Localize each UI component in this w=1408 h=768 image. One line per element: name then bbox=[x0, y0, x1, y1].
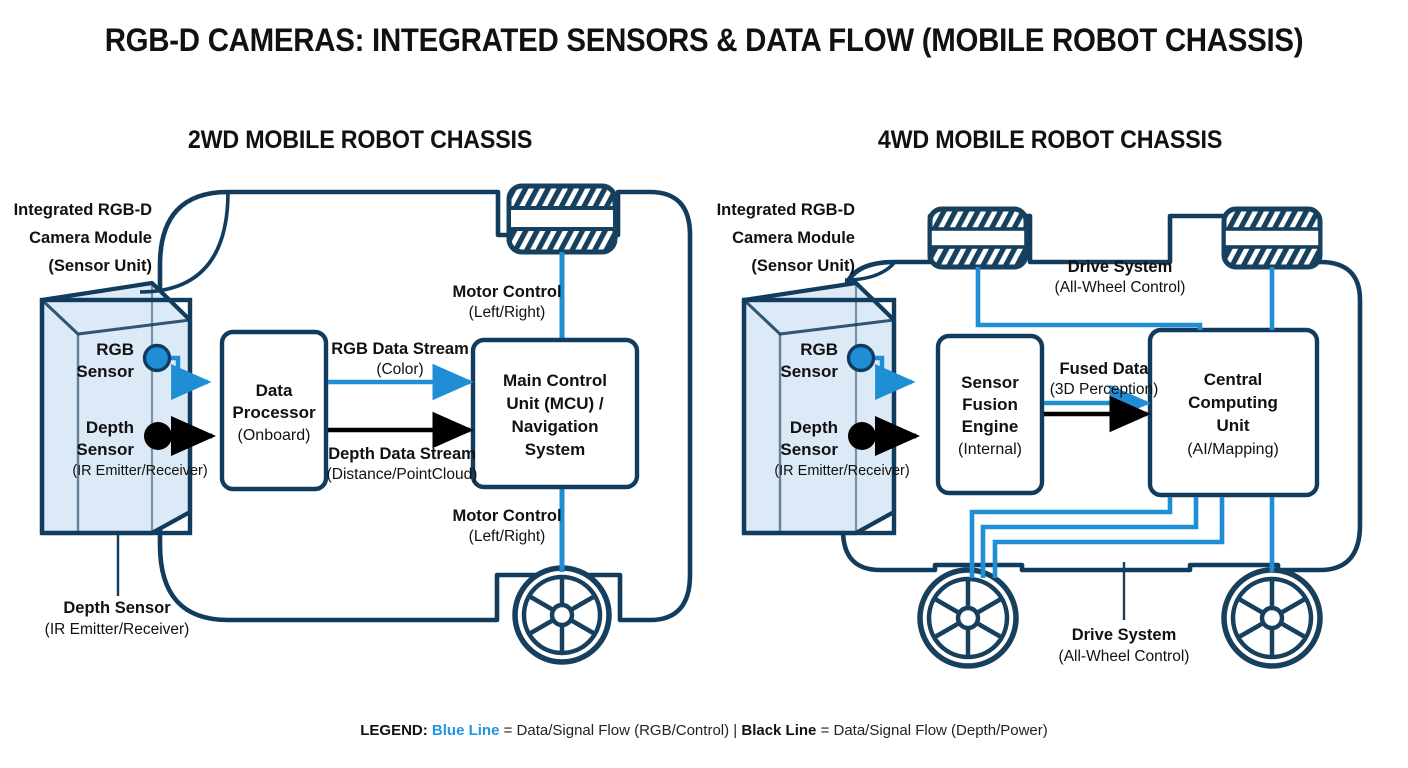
motor-control-bottom-label: Motor Control (Left/Right) bbox=[452, 507, 561, 545]
fusion-line3: Engine bbox=[962, 417, 1019, 436]
camera-callout-4wd-line3: (Sensor Unit) bbox=[751, 257, 855, 275]
fusion-line2: Fusion bbox=[962, 395, 1018, 414]
bottom-callout-line2: (IR Emitter/Receiver) bbox=[45, 621, 190, 638]
drive-lines-top-4wd bbox=[978, 267, 1272, 330]
depth-sensor-line1: Depth bbox=[86, 418, 134, 437]
fusion-line1: Sensor bbox=[961, 373, 1019, 392]
rgb-stream-line2: (Color) bbox=[376, 361, 423, 378]
depth-sensor-bottom-callout-2wd: Depth Sensor (IR Emitter/Receiver) bbox=[45, 599, 190, 638]
motor-control-top-label: Motor Control (Left/Right) bbox=[452, 283, 561, 321]
depth-sensor-4wd-line3: (IR Emitter/Receiver) bbox=[774, 463, 909, 479]
depth-sensor-4wd-line1: Depth bbox=[790, 418, 838, 437]
diagram-canvas: Integrated RGB-D Camera Module (Sensor U… bbox=[0, 0, 1408, 768]
camera-callout-4wd: Integrated RGB-D Camera Module (Sensor U… bbox=[717, 201, 856, 275]
rgb-sensor-line2: Sensor bbox=[76, 362, 134, 381]
rgb-sensor-4wd-line2: Sensor bbox=[780, 362, 838, 381]
drive-bottom-line2: (All-Wheel Control) bbox=[1059, 648, 1190, 665]
depth-sensor-line2: Sensor bbox=[76, 440, 134, 459]
camera-module-2wd bbox=[42, 283, 190, 533]
motor-top-line2: (Left/Right) bbox=[469, 304, 546, 321]
compute-line4: (AI/Mapping) bbox=[1187, 441, 1279, 458]
camera-callout-4wd-line2: Camera Module bbox=[732, 229, 855, 247]
depth-stream-line2: (Distance/PointCloud) bbox=[327, 466, 478, 483]
drive-top-line2: (All-Wheel Control) bbox=[1055, 279, 1186, 296]
fused-data-label: Fused Data (3D Perception) bbox=[1050, 360, 1159, 398]
mcu-box[interactable] bbox=[473, 340, 637, 487]
compute-line2: Computing bbox=[1188, 393, 1278, 412]
camera-module-4wd bbox=[744, 283, 894, 533]
sensor-fusion-box[interactable] bbox=[938, 336, 1042, 493]
legend: LEGEND: Blue Line = Data/Signal Flow (RG… bbox=[0, 722, 1408, 739]
camera-callout-line2: Camera Module bbox=[29, 229, 152, 247]
camera-callout-2wd: Integrated RGB-D Camera Module (Sensor U… bbox=[14, 201, 153, 275]
wheel-rear-bottom-4wd bbox=[1224, 570, 1320, 666]
legend-blue-desc: = Data/Signal Flow (RGB/Control) bbox=[504, 722, 730, 739]
wheel-bottom-2wd bbox=[515, 568, 609, 662]
drive-top-line1: Drive System bbox=[1068, 258, 1173, 276]
camera-callout-4wd-line1: Integrated RGB-D bbox=[717, 201, 856, 219]
fusion-line4: (Internal) bbox=[958, 441, 1022, 458]
data-processor-line1: Data bbox=[256, 381, 293, 400]
drive-bottom-line1: Drive System bbox=[1072, 626, 1177, 644]
mcu-line2: Unit (MCU) / bbox=[506, 394, 604, 413]
motor-bottom-line2: (Left/Right) bbox=[469, 528, 546, 545]
motor-bottom-line1: Motor Control bbox=[452, 507, 561, 525]
depth-stream-line1: Depth Data Stream bbox=[328, 445, 476, 463]
fused-line1: Fused Data bbox=[1060, 360, 1150, 378]
legend-black-term: Black Line bbox=[741, 722, 816, 739]
motor-top-line1: Motor Control bbox=[452, 283, 561, 301]
fused-line2: (3D Perception) bbox=[1050, 381, 1159, 398]
legend-blue-term: Blue Line bbox=[432, 722, 500, 739]
wheel-front-bottom-4wd bbox=[920, 570, 1016, 666]
drive-system-bottom-label: Drive System (All-Wheel Control) bbox=[1059, 626, 1190, 665]
legend-prefix: LEGEND: bbox=[360, 722, 428, 739]
wheel-rear-top-4wd bbox=[1224, 209, 1320, 267]
legend-separator: | bbox=[733, 722, 737, 739]
mcu-line3: Navigation bbox=[512, 417, 599, 436]
central-computing-box[interactable] bbox=[1150, 330, 1317, 495]
data-processor-line3: (Onboard) bbox=[238, 427, 311, 444]
rgb-stream-line1: RGB Data Stream bbox=[331, 340, 469, 358]
mcu-line4: System bbox=[525, 440, 585, 459]
bottom-callout-line1: Depth Sensor bbox=[63, 599, 171, 617]
mcu-line1: Main Control bbox=[503, 371, 607, 390]
rgb-sensor-4wd-line1: RGB bbox=[800, 340, 838, 359]
compute-line1: Central bbox=[1204, 370, 1263, 389]
compute-line3: Unit bbox=[1216, 416, 1249, 435]
rgb-sensor-line1: RGB bbox=[96, 340, 134, 359]
wheel-top-2wd bbox=[509, 186, 615, 252]
rgb-stream-label: RGB Data Stream (Color) bbox=[331, 340, 469, 378]
camera-callout-line3: (Sensor Unit) bbox=[48, 257, 152, 275]
diagram-page: RGB-D CAMERAS: INTEGRATED SENSORS & DATA… bbox=[0, 0, 1408, 768]
camera-callout-line1: Integrated RGB-D bbox=[14, 201, 153, 219]
depth-sensor-line3: (IR Emitter/Receiver) bbox=[72, 463, 207, 479]
drive-system-top-label: Drive System (All-Wheel Control) bbox=[1055, 258, 1186, 296]
wheel-front-top-4wd bbox=[930, 209, 1026, 267]
depth-sensor-4wd-line2: Sensor bbox=[780, 440, 838, 459]
data-processor-line2: Processor bbox=[232, 403, 316, 422]
legend-black-desc: = Data/Signal Flow (Depth/Power) bbox=[821, 722, 1048, 739]
depth-stream-label: Depth Data Stream (Distance/PointCloud) bbox=[327, 445, 478, 483]
